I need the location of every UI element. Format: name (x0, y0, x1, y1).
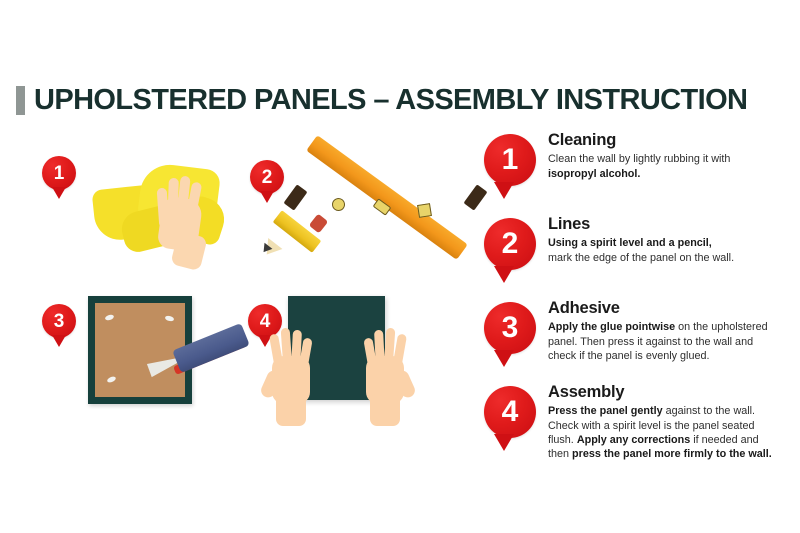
step-text: Using a spirit level and a pencil, mark … (548, 236, 784, 265)
title-text: UPHOLSTERED PANELS – ASSEMBLY INSTRUCTIO… (34, 86, 747, 115)
step-text: Apply the glue pointwise on the upholste… (548, 320, 784, 363)
marker-number-3: 3 (42, 304, 76, 338)
step-heading: Cleaning (548, 132, 784, 149)
step-number-1: 1 (484, 134, 536, 186)
step-heading: Adhesive (548, 300, 784, 317)
illustration-marker-3: 3 (42, 304, 76, 338)
step-marker-1: 1 (484, 134, 536, 186)
step-text: Clean the wall by lightly rubbing it wit… (548, 152, 784, 181)
step-marker-4: 4 (484, 386, 536, 438)
infographic-canvas: UPHOLSTERED PANELS – ASSEMBLY INSTRUCTIO… (0, 0, 800, 533)
step-item: 4 Assembly Press the panel gently agains… (484, 384, 784, 462)
illustration-marker-2: 2 (250, 160, 284, 194)
page-title: UPHOLSTERED PANELS – ASSEMBLY INSTRUCTIO… (16, 86, 747, 115)
step-heading: Lines (548, 216, 784, 233)
pencil-icon (262, 214, 338, 254)
hand-icon (152, 172, 208, 250)
step-marker-2: 2 (484, 218, 536, 270)
steps-list: 1 Cleaning Clean the wall by lightly rub… (484, 132, 784, 474)
two-hands-icon (262, 326, 414, 426)
step-item: 1 Cleaning Clean the wall by lightly rub… (484, 132, 784, 204)
step-item: 3 Adhesive Apply the glue pointwise on t… (484, 300, 784, 372)
marker-tail (494, 350, 514, 367)
left-hand-icon (262, 326, 320, 422)
cleaning-cloth-icon (88, 158, 223, 250)
step-number-2: 2 (484, 218, 536, 270)
marker-tail (260, 191, 274, 203)
right-hand-icon (356, 326, 414, 422)
marker-number-2: 2 (250, 160, 284, 194)
marker-number-1: 1 (42, 156, 76, 190)
step-number-3: 3 (484, 302, 536, 354)
marker-tail (52, 335, 66, 347)
glue-cartridge-icon (150, 328, 250, 390)
marker-tail (494, 434, 514, 451)
marker-tail (494, 266, 514, 283)
step-item: 2 Lines Using a spirit level and a penci… (484, 216, 784, 288)
illustration-marker-1: 1 (42, 156, 76, 190)
step-marker-3: 3 (484, 302, 536, 354)
marker-tail (494, 182, 514, 199)
step-number-4: 4 (484, 386, 536, 438)
step-text: Press the panel gently against to the wa… (548, 404, 784, 461)
marker-tail (52, 187, 66, 199)
title-accent-bar (16, 86, 25, 115)
step-heading: Assembly (548, 384, 784, 401)
